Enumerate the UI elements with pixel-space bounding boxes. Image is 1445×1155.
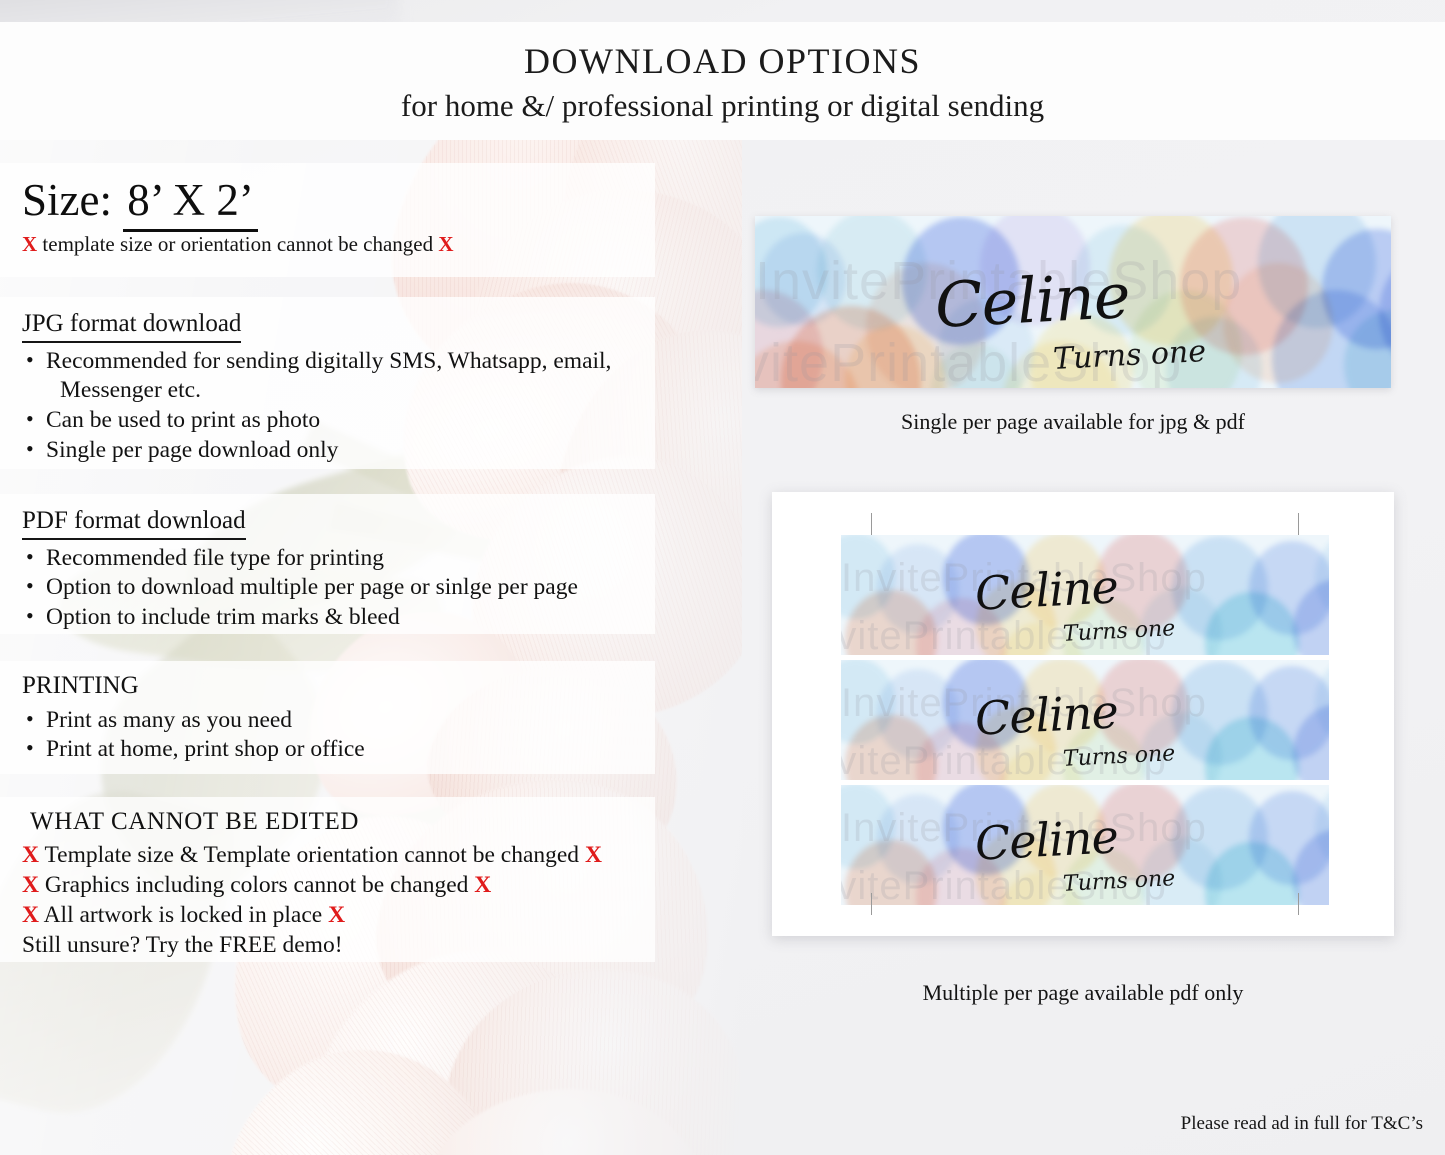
pdf-format-panel: PDF format download Recommended file typ… [0,494,655,634]
list-item: Print as many as you need [22,706,641,736]
single-preview-caption: Single per page available for jpg & pdf [755,409,1391,435]
cannot-edit-line-text: Graphics including colors cannot be chan… [45,872,469,898]
pdf-bullet-list: Recommended file type for printing Optio… [22,544,641,634]
jpg-heading: JPG format download [22,309,241,343]
x-mark-icon: X [22,872,39,898]
list-item: Option to download multiple per page or … [22,573,641,603]
list-item: Single per page download only [22,436,641,466]
cannot-edit-line: X All artwork is locked in place X [22,900,641,930]
cannot-edit-panel: WHAT CANNOT BE EDITED X Template size & … [0,797,655,962]
x-mark-icon: X [22,842,39,868]
x-mark-icon: X [474,872,491,898]
list-item: Recommended file type for printing [22,544,641,574]
size-note-text: template size or orientation cannot be c… [42,232,433,256]
multi-banner-copy[interactable]: InvitePrintableShop InvitePrintableShop … [841,535,1329,655]
list-item: Messenger etc. [22,376,641,406]
banner-name-text: Celine [933,259,1131,342]
page-subtitle: for home &/ professional printing or dig… [0,88,1445,124]
jpg-bullet-list: Recommended for sending digitally SMS, W… [22,347,641,466]
terms-footnote: Please read ad in full for T&C’s [1181,1113,1423,1135]
printing-panel: PRINTING Print as many as you need Print… [0,661,655,774]
multi-banner-copy[interactable]: InvitePrintableShop InvitePrintableShop … [841,660,1329,780]
cannot-edit-heading: WHAT CANNOT BE EDITED [22,808,641,836]
single-banner-preview[interactable]: InvitePrintableShop InvitePrintableShop … [755,216,1391,388]
size-value: 8’ X 2’ [123,175,258,232]
list-item: Recommended for sending digitally SMS, W… [22,347,641,377]
size-panel: Size: 8’ X 2’ X template size or orienta… [0,163,655,277]
crop-mark-top-left [871,513,872,535]
crop-mark-bottom-right [1298,893,1299,915]
cannot-edit-closing: Still unsure? Try the FREE demo! [22,930,641,960]
x-mark-icon: X [585,842,602,868]
list-item: Can be used to print as photo [22,406,641,436]
printing-heading: PRINTING [22,671,139,702]
cannot-edit-line-text: All artwork is locked in place [44,902,323,928]
crop-mark-bottom-left [871,893,872,915]
size-note: X template size or orientation cannot be… [22,232,641,257]
multi-preview-caption: Multiple per page available pdf only [772,980,1394,1006]
x-mark-icon: X [22,232,37,256]
banner-name-text: Celine [974,559,1119,620]
x-mark-icon: X [328,902,345,928]
cannot-edit-line: X Template size & Template orientation c… [22,840,641,870]
printing-bullet-list: Print as many as you need Print at home,… [22,706,641,766]
size-label: Size: [22,175,112,225]
banner-name-text: Celine [974,684,1119,745]
cannot-edit-line-text: Template size & Template orientation can… [44,842,579,868]
banner-name-text: Celine [974,809,1119,870]
cannot-edit-line: X Graphics including colors cannot be ch… [22,870,641,900]
list-item: Option to include trim marks & bleed [22,603,641,633]
poster-canvas: DOWNLOAD OPTIONS for home &/ professiona… [0,0,1445,1155]
jpg-format-panel: JPG format download Recommended for send… [0,297,655,469]
page-title: DOWNLOAD OPTIONS [0,40,1445,82]
crop-mark-top-right [1298,513,1299,535]
pdf-heading: PDF format download [22,506,246,540]
multi-banner-copy[interactable]: InvitePrintableShop InvitePrintableShop … [841,785,1329,905]
size-line: Size: 8’ X 2’ [22,177,641,224]
x-mark-icon: X [22,902,39,928]
list-item: Print at home, print shop or office [22,735,641,765]
x-mark-icon: X [438,232,453,256]
